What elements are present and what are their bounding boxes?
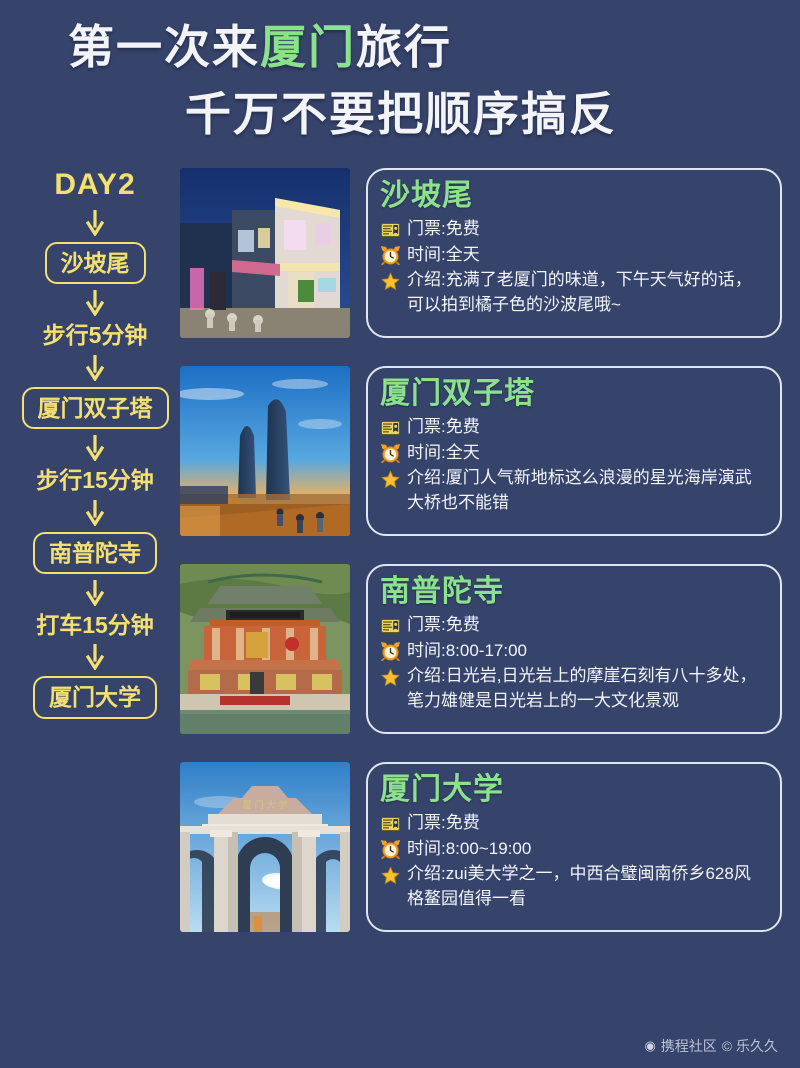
footer-source: 携程社区 bbox=[661, 1036, 717, 1056]
title-part-b: 旅行 bbox=[356, 21, 452, 73]
title-highlight-city: 厦门 bbox=[260, 21, 356, 73]
attraction-rows: 沙坡尾 门票:免费 时间:全天 介绍:充满了老厦门的味道，下午天气好的话，可以拍… bbox=[180, 164, 782, 932]
description-line: 介绍:zui美大学之一，中西合璧闽南侨乡628风格鳌园值得一看 bbox=[380, 862, 766, 911]
arrow-down-icon bbox=[86, 210, 104, 236]
arrow-down-icon bbox=[86, 644, 104, 670]
description-line: 介绍:日光岩,日光岩上的摩崖石刻有八十多处，笔力雄健是日光岩上的一大文化景观 bbox=[380, 664, 766, 713]
attraction-photo-0[interactable] bbox=[180, 168, 350, 338]
attraction-row: 沙坡尾 门票:免费 时间:全天 介绍:充满了老厦门的味道，下午天气好的话，可以拍… bbox=[180, 168, 782, 338]
attraction-title: 厦门大学 bbox=[380, 772, 766, 807]
timeline-stop-0[interactable]: 沙坡尾 bbox=[45, 242, 146, 284]
footer-credit: ◉ 携程社区 © 乐久久 bbox=[644, 1036, 778, 1056]
star-icon bbox=[380, 270, 400, 292]
alarm-clock-icon bbox=[380, 245, 400, 267]
time-text: 时间:全天 bbox=[407, 243, 766, 268]
time-text: 时间:8:00~19:00 bbox=[407, 837, 766, 862]
ticket-text: 门票:免费 bbox=[407, 217, 766, 242]
ticket-icon bbox=[380, 417, 400, 439]
ticket-line: 门票:免费 bbox=[380, 811, 766, 836]
timeline-transit-1: 步行5分钟 bbox=[43, 322, 148, 348]
page-header: 第一次来厦门旅行 千万不要把顺序搞反 bbox=[0, 0, 800, 150]
title-part-a: 第一次来 bbox=[68, 21, 260, 73]
attraction-photo-3[interactable]: 厦 门 大 学 bbox=[180, 762, 350, 932]
app-mark-icon: ◉ bbox=[644, 1038, 655, 1054]
description-line: 介绍:充满了老厦门的味道，下午天气好的话，可以拍到橘子色的沙波尾哦~ bbox=[380, 268, 766, 317]
description-line: 介绍:厦门人气新地标这么浪漫的星光海岸演武大桥也不能错 bbox=[380, 466, 766, 515]
arrow-down-icon bbox=[86, 500, 104, 526]
timeline-stop-6[interactable]: 厦门大学 bbox=[33, 676, 157, 718]
star-icon bbox=[380, 666, 400, 688]
ticket-line: 门票:免费 bbox=[380, 415, 766, 440]
attraction-title: 南普陀寺 bbox=[380, 574, 766, 609]
attraction-card-2: 南普陀寺 门票:免费 时间:8:00-17:00 介绍:日光岩,日光岩上的摩崖石… bbox=[366, 564, 782, 734]
time-line: 时间:全天 bbox=[380, 243, 766, 268]
ticket-line: 门票:免费 bbox=[380, 217, 766, 242]
arrow-down-icon bbox=[86, 290, 104, 316]
footer-copyright: © 乐久久 bbox=[722, 1036, 778, 1056]
timeline-transit-5: 打车15分钟 bbox=[36, 612, 154, 638]
attraction-card-0: 沙坡尾 门票:免费 时间:全天 介绍:充满了老厦门的味道，下午天气好的话，可以拍… bbox=[366, 168, 782, 338]
arrow-down-icon bbox=[86, 580, 104, 606]
attraction-row: 厦门双子塔 门票:免费 时间:全天 介绍:厦门人气新地标这么浪漫的星光海岸演武大… bbox=[180, 366, 782, 536]
ticket-line: 门票:免费 bbox=[380, 613, 766, 638]
time-text: 时间:全天 bbox=[407, 441, 766, 466]
title-line-2: 千万不要把顺序搞反 bbox=[0, 85, 800, 144]
description-text: 介绍:日光岩,日光岩上的摩崖石刻有八十多处，笔力雄健是日光岩上的一大文化景观 bbox=[407, 664, 766, 713]
arrow-down-icon bbox=[86, 355, 104, 381]
attraction-photo-2[interactable] bbox=[180, 564, 350, 734]
attraction-card-3: 厦门大学 门票:免费 时间:8:00~19:00 介绍:zui美大学之一，中西合… bbox=[366, 762, 782, 932]
timeline-steps: 沙坡尾 步行5分钟 厦门双子塔 步行15分钟 南普陀寺 打车15分钟 厦门大学 bbox=[22, 204, 169, 719]
ticket-text: 门票:免费 bbox=[407, 811, 766, 836]
attraction-card-1: 厦门双子塔 门票:免费 时间:全天 介绍:厦门人气新地标这么浪漫的星光海岸演武大… bbox=[366, 366, 782, 536]
arrow-down-icon bbox=[86, 435, 104, 461]
star-icon bbox=[380, 468, 400, 490]
itinerary-timeline: DAY2 沙坡尾 步行5分钟 厦门双子塔 步行15分钟 南普陀寺 打车15分钟 … bbox=[10, 164, 180, 932]
attraction-row: 南普陀寺 门票:免费 时间:8:00-17:00 介绍:日光岩,日光岩上的摩崖石… bbox=[180, 564, 782, 734]
description-text: 介绍:厦门人气新地标这么浪漫的星光海岸演武大桥也不能错 bbox=[407, 466, 766, 515]
attraction-row: 厦 门 大 学 厦门大学 门票:免费 时间:8:00~19:00 介 bbox=[180, 762, 782, 932]
timeline-stop-4[interactable]: 南普陀寺 bbox=[33, 532, 157, 574]
time-line: 时间:8:00~19:00 bbox=[380, 837, 766, 862]
timeline-stop-2[interactable]: 厦门双子塔 bbox=[22, 387, 169, 429]
attraction-title: 厦门双子塔 bbox=[380, 376, 766, 411]
ticket-icon bbox=[380, 615, 400, 637]
alarm-clock-icon bbox=[380, 839, 400, 861]
content-area: DAY2 沙坡尾 步行5分钟 厦门双子塔 步行15分钟 南普陀寺 打车15分钟 … bbox=[0, 150, 800, 932]
ticket-text: 门票:免费 bbox=[407, 415, 766, 440]
star-icon bbox=[380, 864, 400, 886]
svg-text:厦 门 大 学: 厦 门 大 学 bbox=[243, 799, 288, 811]
attraction-photo-1[interactable] bbox=[180, 366, 350, 536]
ticket-icon bbox=[380, 219, 400, 241]
time-line: 时间:8:00-17:00 bbox=[380, 639, 766, 664]
description-text: 介绍:zui美大学之一，中西合璧闽南侨乡628风格鳌园值得一看 bbox=[407, 862, 766, 911]
description-text: 介绍:充满了老厦门的味道，下午天气好的话，可以拍到橘子色的沙波尾哦~ bbox=[407, 268, 766, 317]
title-line-1: 第一次来厦门旅行 bbox=[0, 18, 800, 77]
timeline-transit-3: 步行15分钟 bbox=[36, 467, 154, 493]
time-line: 时间:全天 bbox=[380, 441, 766, 466]
attraction-title: 沙坡尾 bbox=[380, 178, 766, 213]
ticket-icon bbox=[380, 813, 400, 835]
alarm-clock-icon bbox=[380, 443, 400, 465]
time-text: 时间:8:00-17:00 bbox=[407, 639, 766, 664]
alarm-clock-icon bbox=[380, 641, 400, 663]
day-label: DAY2 bbox=[54, 168, 135, 202]
ticket-text: 门票:免费 bbox=[407, 613, 766, 638]
